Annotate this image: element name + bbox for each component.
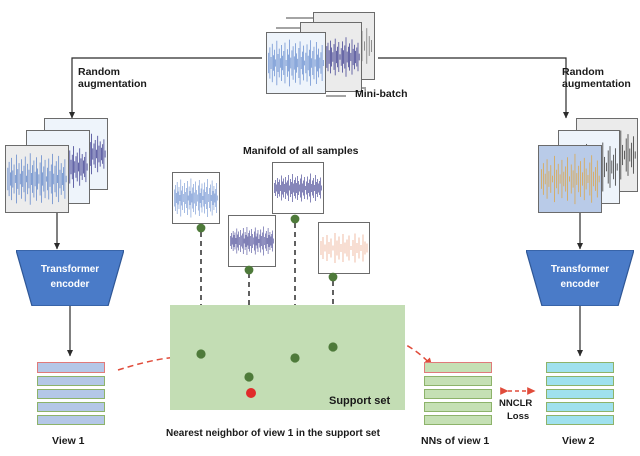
support-red-dot <box>246 388 256 398</box>
nn-bar-0[interactable] <box>424 362 492 373</box>
figure-canvas: Mini-batch Random augmentation Random au… <box>0 0 640 456</box>
view1-stack <box>37 362 105 428</box>
nnclr-label: NNCLR <box>499 398 532 410</box>
view2-stack <box>546 362 614 428</box>
support-dot-1 <box>196 349 205 358</box>
support-dot-4 <box>328 342 337 351</box>
nn-bar-4[interactable] <box>424 415 492 425</box>
view1-bar-0[interactable] <box>37 362 105 373</box>
manifold-dot-1 <box>197 224 206 233</box>
nn-bar-3[interactable] <box>424 402 492 412</box>
view2-bar-3[interactable] <box>546 402 614 412</box>
loss-label: Loss <box>507 411 529 423</box>
view2-bar-0[interactable] <box>546 362 614 373</box>
manifold-dot-3 <box>291 215 300 224</box>
view1-bar-1[interactable] <box>37 376 105 386</box>
nns-of-view1-stack <box>424 362 492 428</box>
nn-bar-1[interactable] <box>424 376 492 386</box>
manifold-dot-4 <box>329 273 338 282</box>
support-dot-2 <box>244 372 253 381</box>
support-dot-3 <box>290 353 299 362</box>
manifold-dot-2 <box>245 266 254 275</box>
view1-bar-4[interactable] <box>37 415 105 425</box>
view1-bar-2[interactable] <box>37 389 105 399</box>
nns-of-view1-label: NNs of view 1 <box>421 435 489 447</box>
view2-bar-4[interactable] <box>546 415 614 425</box>
view1-label: View 1 <box>52 435 85 447</box>
view2-label: View 2 <box>562 435 595 447</box>
view1-bar-3[interactable] <box>37 402 105 412</box>
nn-bar-2[interactable] <box>424 389 492 399</box>
view2-bar-1[interactable] <box>546 376 614 386</box>
view2-bar-2[interactable] <box>546 389 614 399</box>
